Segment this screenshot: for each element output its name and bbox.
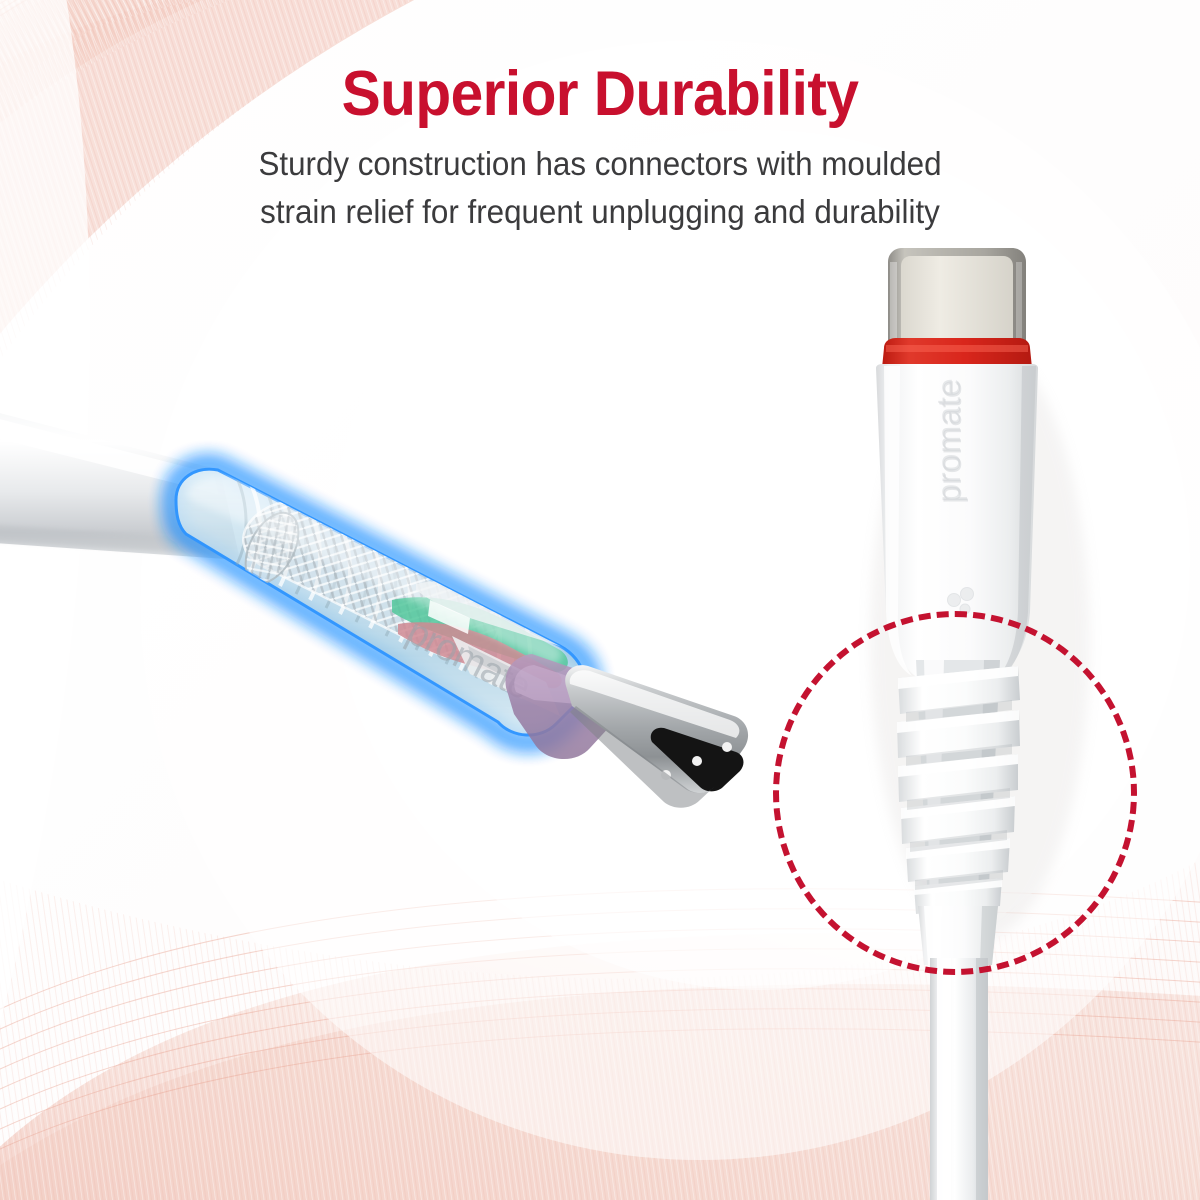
usb-c-tip-right: [888, 248, 1026, 350]
right-cable-assembly: promate promate: [0, 0, 1200, 1200]
cable-right: [930, 958, 988, 1200]
product-feature-banner: promate: [0, 0, 1200, 1200]
red-accent-band: [882, 338, 1032, 368]
strain-relief-callout-circle: [773, 611, 1137, 975]
promate-wordmark-right: promate promate: [930, 378, 968, 504]
svg-text:promate: promate: [931, 379, 968, 504]
